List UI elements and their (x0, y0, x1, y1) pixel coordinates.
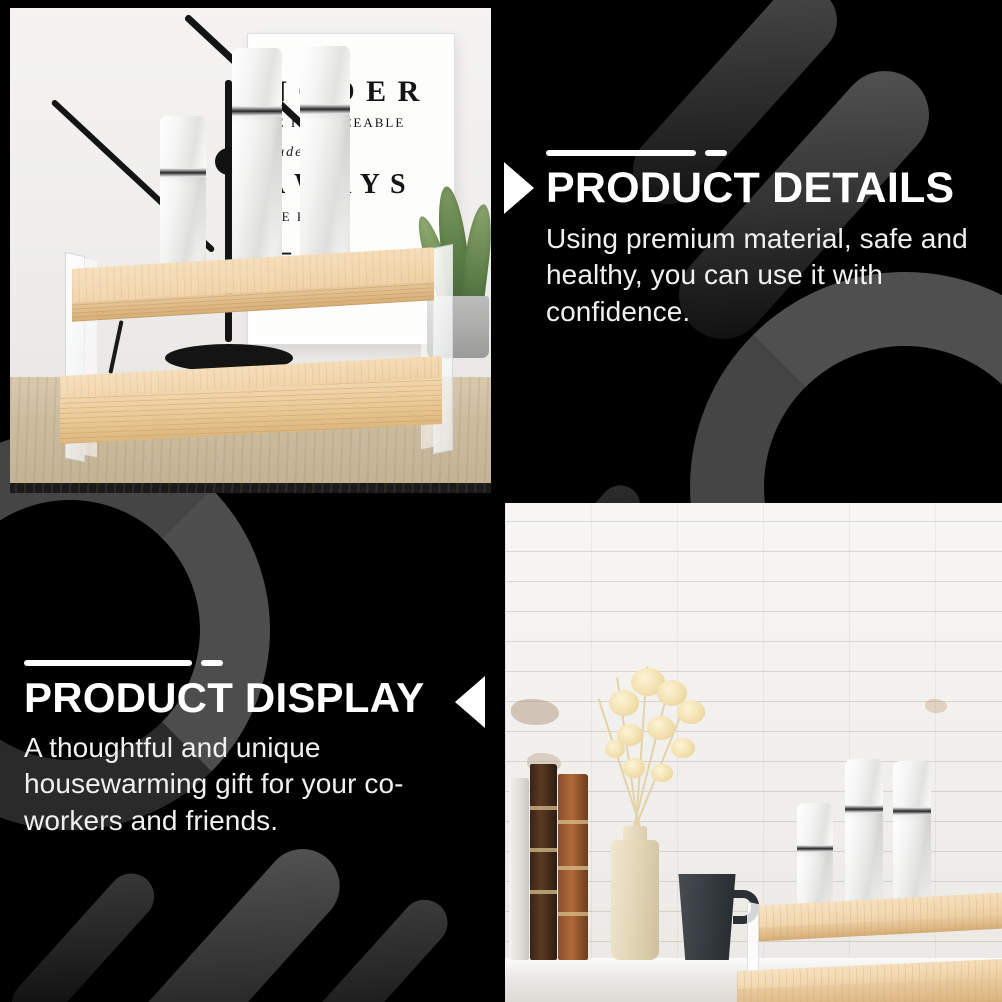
brick-patch-3 (925, 699, 947, 713)
rule-short-segment (201, 660, 223, 666)
product-details-heading: PRODUCT DETAILS (546, 167, 976, 211)
heading-rule (546, 150, 976, 156)
book-1 (509, 778, 529, 960)
product-display-heading: PRODUCT DISPLAY (24, 677, 444, 720)
book-2 (530, 764, 557, 960)
product-detail-photo: N O D E R BE IT PEACEABLE made A W A Y S… (10, 8, 491, 493)
wood-shelf-upper (759, 899, 1002, 935)
product-display-body: A thoughtful and unique housewarming gif… (24, 730, 444, 839)
right-triangle-pointer-icon (504, 162, 534, 214)
rule-long-segment (24, 660, 192, 666)
product-display-text-block: PRODUCT DISPLAY A thoughtful and unique … (24, 660, 444, 839)
ceramic-vase (611, 840, 659, 960)
pump-bottle-tall-1 (232, 48, 282, 288)
infographic-canvas: N O D E R BE IT PEACEABLE made A W A Y S… (0, 0, 1002, 1002)
rule-long-segment (546, 150, 696, 156)
book-3 (558, 774, 588, 960)
product-display-photo (505, 503, 1002, 1002)
rule-short-segment (705, 150, 727, 156)
brick-patch-1 (511, 699, 559, 725)
desk-edge (10, 483, 491, 493)
diagonal-capsule-5 (99, 834, 355, 1002)
wood-shelf-lower (60, 366, 442, 434)
diagonal-capsule-4 (2, 864, 163, 1002)
heading-rule (24, 660, 444, 666)
product-details-text-block: PRODUCT DETAILS Using premium material, … (546, 150, 976, 330)
wood-shelf-upper (72, 258, 434, 311)
product-details-body: Using premium material, safe and healthy… (546, 221, 976, 330)
left-triangle-pointer-icon (455, 676, 485, 728)
diagonal-capsule-6 (289, 890, 457, 1002)
wood-shelf-lower (737, 965, 1002, 1002)
